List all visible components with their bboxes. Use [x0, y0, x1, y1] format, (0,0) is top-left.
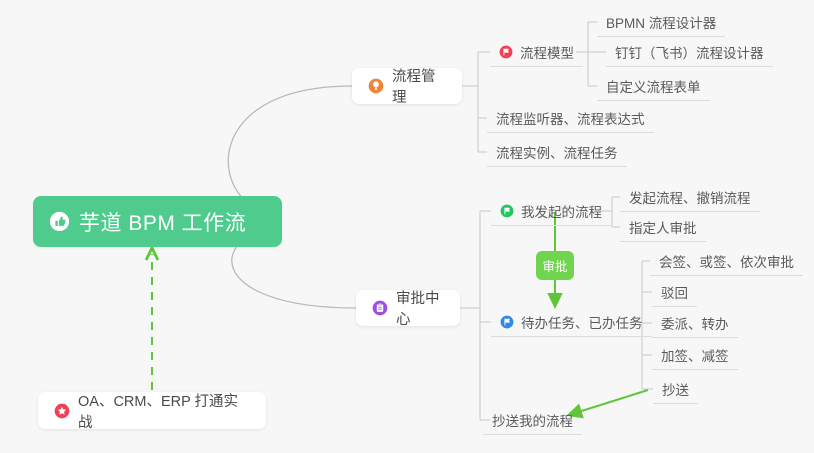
flag-icon — [500, 204, 514, 218]
note-node-oa-crm-erp[interactable]: OA、CRM、ERP 打通实战 — [38, 392, 266, 429]
leaf-label: 会签、或签、依次审批 — [659, 251, 794, 271]
highlight-badge-label: 审批 — [542, 256, 567, 275]
leaf-label: 发起流程、撤销流程 — [629, 187, 751, 207]
branch-node-liucheng-guanli[interactable]: 流程管理 — [352, 68, 462, 104]
leaf-jiaqian[interactable]: 加签、减签 — [652, 341, 738, 370]
leaf-label: 我发起的流程 — [521, 201, 602, 221]
highlight-badge-shenpi[interactable]: 审批 — [536, 251, 574, 280]
flag-icon — [499, 45, 513, 59]
leaf-bohui[interactable]: 驳回 — [652, 278, 697, 307]
leaf-bpmn[interactable]: BPMN 流程设计器 — [597, 8, 725, 37]
thumbs-up-icon — [49, 211, 70, 232]
arrow-chaosong-to-chaosong-wode — [572, 390, 648, 414]
leaf-label: 自定义流程表单 — [606, 76, 701, 96]
leaf-label: 流程实例、流程任务 — [496, 142, 618, 162]
leaf-wofaqi[interactable]: 我发起的流程 — [491, 197, 611, 226]
leaf-label: 流程模型 — [520, 42, 574, 62]
branch-node-label: 审批中心 — [396, 287, 444, 329]
branch-node-shenpi-zhongxin[interactable]: 审批中心 — [356, 290, 460, 326]
leaf-zhidingren[interactable]: 指定人审批 — [620, 213, 706, 242]
root-node[interactable]: 芋道 BPM 工作流 — [33, 196, 282, 247]
leaf-daiban[interactable]: 待办任务、已办任务 — [491, 308, 652, 337]
leaf-label: 钉钉（飞书）流程设计器 — [615, 42, 764, 62]
leaf-label: 委派、转办 — [661, 313, 729, 333]
leaf-dingding[interactable]: 钉钉（飞书）流程设计器 — [606, 38, 773, 67]
clipboard-icon — [372, 300, 388, 316]
leaf-zidingyi[interactable]: 自定义流程表单 — [597, 72, 710, 101]
leaf-huiqian[interactable]: 会签、或签、依次审批 — [650, 247, 803, 276]
leaf-liucheng-moxing[interactable]: 流程模型 — [490, 38, 583, 67]
mindmap-canvas: 芋道 BPM 工作流 OA、CRM、ERP 打通实战 流程管理 — [0, 0, 814, 453]
root-node-label: 芋道 BPM 工作流 — [79, 207, 246, 237]
leaf-label: 待办任务、已办任务 — [521, 312, 643, 332]
star-icon — [54, 403, 70, 419]
leaf-jiantingqi[interactable]: 流程监听器、流程表达式 — [487, 104, 654, 133]
leaf-label: BPMN 流程设计器 — [606, 12, 716, 32]
branch-node-label: 流程管理 — [392, 65, 446, 107]
leaf-label: 指定人审批 — [629, 217, 697, 237]
leaf-label: 流程监听器、流程表达式 — [496, 108, 645, 128]
leaf-weipai[interactable]: 委派、转办 — [652, 309, 738, 338]
flag-icon — [500, 315, 514, 329]
note-node-label: OA、CRM、ERP 打通实战 — [78, 390, 250, 432]
leaf-label: 抄送我的流程 — [492, 410, 573, 430]
leaf-label: 加签、减签 — [661, 345, 729, 365]
leaf-shili[interactable]: 流程实例、流程任务 — [487, 138, 627, 167]
leaf-faqi-chexiao[interactable]: 发起流程、撤销流程 — [620, 183, 760, 212]
leaf-label: 抄送 — [662, 379, 689, 399]
leaf-chaosong[interactable]: 抄送 — [653, 375, 698, 404]
leaf-chaosong-wode[interactable]: 抄送我的流程 — [483, 406, 582, 435]
lightbulb-icon — [368, 78, 384, 94]
leaf-label: 驳回 — [661, 282, 688, 302]
